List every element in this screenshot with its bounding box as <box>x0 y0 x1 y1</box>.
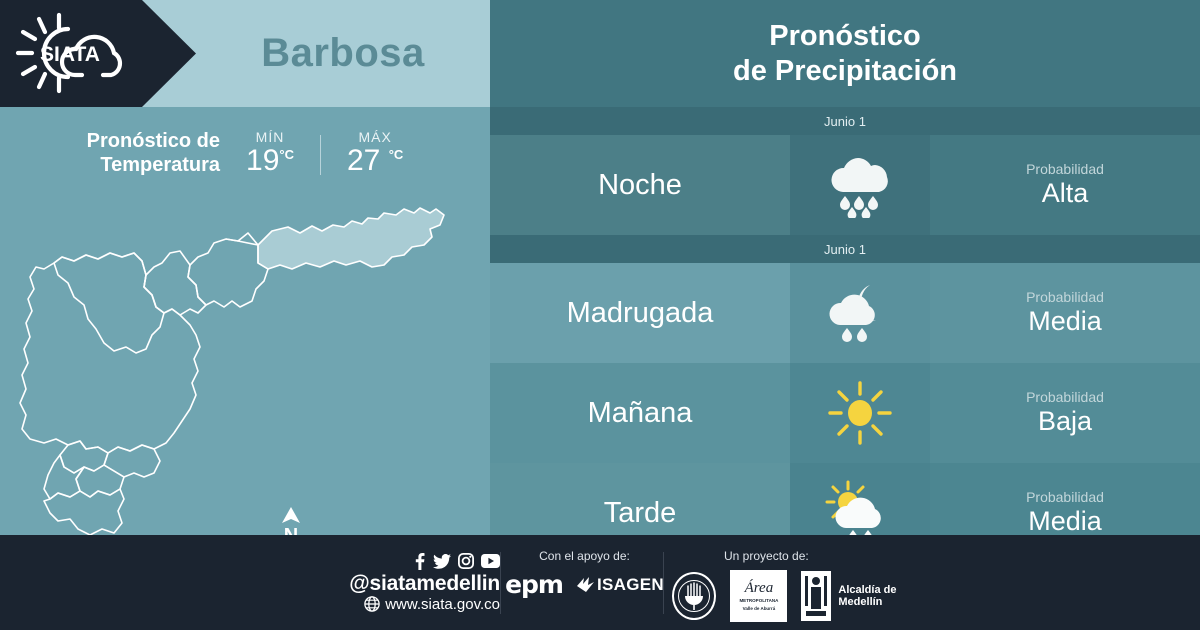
aburra-valley-map: N <box>0 177 490 535</box>
youtube-icon[interactable] <box>481 554 500 568</box>
probability-cell: Probabilidad Baja <box>930 363 1200 463</box>
sun-cloud-icon: SIATA <box>12 11 130 95</box>
brand-bar: SIATA Barbosa <box>0 0 490 107</box>
date-band-2: Junio 1 <box>490 235 1200 263</box>
alcaldia-logo: Alcaldía de Medellín <box>801 571 932 621</box>
page-title: Barbosa <box>196 0 490 107</box>
forecast-period: Madrugada <box>490 263 790 363</box>
rain-cloud-icon <box>790 135 930 235</box>
forecast-period: Noche <box>490 135 790 235</box>
probability-caption: Probabilidad <box>1026 389 1104 405</box>
social-block: @siatamedellin www.siata.gov.co <box>300 535 500 630</box>
support-block: Con el apoyo de: epm ISAGEN <box>512 549 657 599</box>
date-band-1: Junio 1 <box>490 107 1200 135</box>
precipitation-title-line2: de Precipitación <box>733 54 957 89</box>
social-icons <box>413 553 500 570</box>
probability-value: Baja <box>1038 406 1092 437</box>
project-caption: Un proyecto de: <box>724 549 809 563</box>
temperature-max-label: MÁX <box>347 129 403 145</box>
left-panel: SIATA Barbosa Pronóstico de Temperatura … <box>0 0 490 535</box>
probability-caption: Probabilidad <box>1026 161 1104 177</box>
sun-icon <box>790 363 930 463</box>
temperature-max: MÁX 27 °C <box>347 129 403 178</box>
probability-cell: Probabilidad Media <box>930 263 1200 363</box>
precipitation-panel: Pronóstico de Precipitación Junio 1 Noch… <box>490 0 1200 535</box>
map-svg <box>0 177 490 535</box>
temperature-title-line2: Temperatura <box>87 153 220 177</box>
probability-value: Media <box>1028 506 1102 537</box>
map-region-barbosa <box>258 208 444 269</box>
facebook-icon[interactable] <box>413 553 426 570</box>
forecast-period: Mañana <box>490 363 790 463</box>
website-link[interactable]: www.siata.gov.co <box>364 596 500 613</box>
forecast-row: Noche Probabilidad Alta <box>490 135 1200 235</box>
support-caption: Con el apoyo de: <box>539 549 630 563</box>
moon-cloud-rain-icon <box>790 263 930 363</box>
precipitation-title-line1: Pronóstico <box>769 19 920 54</box>
siata-logo-text: SIATA <box>40 43 100 66</box>
udea-seal-icon <box>672 572 716 620</box>
probability-caption: Probabilidad <box>1026 289 1104 305</box>
support-logos: epm ISAGEN <box>505 570 664 599</box>
temperature-title: Pronóstico de Temperatura <box>87 129 220 178</box>
area-metropolitana-logo: Área METROPOLITANA Valle de Aburrá <box>730 570 787 622</box>
website-text: www.siata.gov.co <box>385 596 500 613</box>
temperature-min: MÍN 19°C <box>246 129 294 178</box>
temperature-divider <box>320 135 321 175</box>
project-block: Un proyecto de: <box>672 549 932 622</box>
probability-value: Media <box>1028 306 1102 337</box>
isagen-logo: ISAGEN <box>577 575 664 595</box>
globe-icon <box>364 596 380 612</box>
temperature-panel: Pronóstico de Temperatura MÍN 19°C MÁX 2… <box>0 107 490 535</box>
epm-logo: epm <box>505 570 563 599</box>
forecast-row: Madrugada Probabilidad Media <box>490 263 1200 363</box>
temperature-min-value: 19°C <box>246 144 294 178</box>
weather-forecast-infographic: SIATA Barbosa Pronóstico de Temperatura … <box>0 0 1200 630</box>
forecast-row: Mañana Probabili <box>490 363 1200 463</box>
temperature-max-value: 27 °C <box>347 144 403 178</box>
isagen-mark-icon <box>577 577 594 592</box>
temperature-min-label: MÍN <box>246 129 294 145</box>
north-arrow-icon <box>280 507 302 524</box>
social-handle[interactable]: @siatamedellin <box>349 572 500 596</box>
footer: @siatamedellin www.siata.gov.co Con el a… <box>0 535 1200 630</box>
footer-divider <box>500 552 501 614</box>
probability-caption: Probabilidad <box>1026 489 1104 505</box>
instagram-icon[interactable] <box>458 553 474 569</box>
footer-divider-2 <box>663 552 664 614</box>
precipitation-title: Pronóstico de Precipitación <box>490 0 1200 107</box>
probability-cell: Probabilidad Alta <box>930 135 1200 235</box>
brand-flag: SIATA <box>0 0 196 107</box>
temperature-title-line1: Pronóstico de <box>87 129 220 153</box>
project-logos: Área METROPOLITANA Valle de Aburrá <box>672 570 932 622</box>
twitter-icon[interactable] <box>433 554 451 569</box>
probability-value: Alta <box>1042 178 1089 209</box>
alcaldia-crest-icon <box>801 571 831 621</box>
